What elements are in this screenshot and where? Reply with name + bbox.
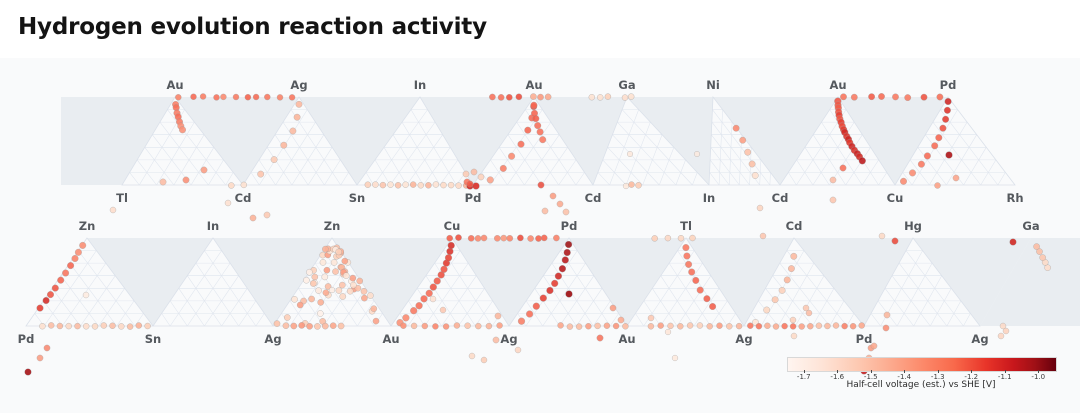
- data-point: [772, 297, 778, 303]
- data-point: [52, 285, 59, 292]
- data-point: [481, 357, 487, 363]
- data-point: [931, 143, 938, 150]
- data-point: [576, 324, 582, 330]
- data-point: [697, 287, 704, 294]
- data-point: [225, 200, 231, 206]
- data-point: [421, 295, 428, 302]
- data-point: [340, 293, 346, 299]
- data-point: [892, 238, 898, 244]
- data-point: [940, 125, 947, 132]
- data-point: [365, 182, 371, 188]
- data-point: [284, 314, 290, 320]
- data-point: [475, 323, 481, 329]
- data-point: [535, 235, 541, 241]
- data-point: [312, 274, 318, 280]
- data-point: [652, 235, 658, 241]
- data-point: [604, 323, 610, 329]
- data-point: [403, 314, 410, 321]
- data-point: [567, 324, 573, 330]
- ternary-vertex-label-top: Au: [166, 78, 183, 92]
- ternary-vertex-label-bottom: Cu: [887, 191, 904, 205]
- data-point: [454, 323, 460, 329]
- data-point: [905, 94, 911, 100]
- data-point: [497, 323, 503, 329]
- data-point: [773, 324, 779, 330]
- data-point: [859, 157, 866, 164]
- ternary-vertex-label-bottom: Pd: [18, 332, 35, 346]
- ternary-vertex-label-bottom: Sn: [145, 332, 161, 346]
- data-point: [884, 312, 890, 318]
- data-point: [541, 235, 547, 241]
- data-point: [528, 235, 534, 241]
- data-point: [859, 323, 865, 329]
- data-point: [935, 183, 941, 189]
- data-point: [253, 94, 259, 100]
- data-point: [506, 94, 512, 100]
- data-point: [37, 355, 43, 361]
- data-point: [564, 249, 571, 256]
- data-point: [329, 287, 335, 293]
- data-point: [892, 94, 898, 100]
- data-point: [622, 95, 628, 101]
- data-point: [214, 94, 220, 100]
- data-point: [487, 177, 494, 184]
- data-point: [395, 182, 401, 188]
- shaded-ternary-triangle: [713, 97, 838, 185]
- ternary-vertex-label-top: Au: [525, 78, 542, 92]
- ternary-vertex-label-top: Ga: [618, 78, 635, 92]
- data-point: [338, 323, 344, 329]
- data-point: [489, 94, 495, 100]
- data-point: [537, 129, 544, 136]
- data-point: [455, 235, 461, 241]
- data-point: [434, 278, 441, 285]
- data-point: [790, 323, 796, 329]
- data-point: [426, 290, 433, 297]
- data-point: [388, 182, 394, 188]
- data-point: [433, 182, 439, 188]
- data-point: [533, 115, 540, 122]
- data-point: [350, 275, 356, 281]
- data-point: [553, 235, 559, 241]
- data-point: [538, 182, 544, 188]
- data-point: [830, 177, 836, 183]
- ternary-vertex-label-top: Pd: [940, 78, 957, 92]
- data-point: [628, 94, 634, 100]
- ternary-vertex-label-bottom: Ag: [735, 332, 752, 346]
- data-point: [306, 269, 312, 275]
- data-point: [493, 337, 499, 343]
- data-point: [322, 274, 328, 280]
- data-point: [44, 345, 50, 351]
- data-point: [779, 287, 785, 293]
- data-point: [629, 182, 635, 188]
- data-point: [1010, 239, 1017, 246]
- data-point: [264, 212, 270, 218]
- data-point: [66, 323, 72, 329]
- data-point: [430, 284, 437, 291]
- data-point: [447, 235, 453, 241]
- ternary-vertex-label-bottom: In: [703, 191, 715, 205]
- data-point: [336, 287, 342, 293]
- data-point: [447, 248, 454, 255]
- data-point: [752, 172, 758, 178]
- data-point: [733, 125, 739, 131]
- data-point: [937, 94, 943, 100]
- data-point: [816, 323, 822, 329]
- ternary-vertex-label-bottom: Cd: [585, 191, 602, 205]
- data-point: [540, 295, 547, 302]
- data-point: [648, 323, 654, 329]
- data-point: [372, 182, 378, 188]
- data-point: [518, 141, 525, 148]
- data-point: [868, 94, 874, 100]
- data-point: [936, 134, 943, 141]
- data-point: [605, 94, 611, 100]
- data-point: [469, 353, 475, 359]
- data-point: [508, 153, 515, 160]
- data-point: [403, 182, 409, 188]
- data-point: [665, 329, 671, 335]
- data-point: [441, 182, 447, 188]
- data-point: [277, 94, 283, 100]
- data-point: [515, 347, 521, 353]
- ternary-vertex-label-bottom: Sn: [349, 191, 365, 205]
- data-point: [317, 310, 323, 316]
- data-point: [539, 136, 546, 143]
- data-point: [79, 242, 86, 249]
- data-point: [101, 323, 107, 329]
- data-point: [1003, 328, 1009, 334]
- data-point: [323, 290, 329, 296]
- data-point: [200, 94, 206, 100]
- data-point: [290, 128, 296, 134]
- data-point: [531, 102, 538, 109]
- data-point: [788, 265, 794, 271]
- shaded-ternary-triangle: [299, 97, 420, 185]
- data-point: [830, 197, 836, 203]
- ternary-vertex-label-top: Ag: [290, 78, 307, 92]
- data-point: [850, 323, 856, 329]
- data-point: [475, 235, 481, 241]
- data-point: [110, 323, 116, 329]
- shaded-ternary-triangle: [627, 97, 713, 185]
- data-point: [791, 333, 797, 339]
- data-point: [501, 235, 507, 241]
- data-point: [953, 175, 959, 181]
- data-point: [636, 182, 642, 188]
- ternary-vertex-label-bottom: Au: [382, 332, 399, 346]
- data-point: [498, 94, 504, 100]
- data-point: [72, 255, 79, 262]
- data-point: [526, 311, 533, 318]
- data-point: [307, 323, 313, 329]
- ternary-vertex-label-bottom: Ag: [264, 332, 281, 346]
- data-point: [494, 235, 500, 241]
- data-point: [697, 323, 703, 329]
- data-point: [39, 323, 45, 329]
- data-point: [110, 207, 116, 213]
- data-point: [297, 302, 303, 308]
- data-point: [339, 282, 345, 288]
- data-point: [707, 323, 713, 329]
- data-point: [565, 241, 572, 248]
- data-point: [324, 267, 330, 273]
- data-point: [840, 165, 846, 171]
- data-point: [25, 369, 32, 376]
- data-point: [336, 249, 342, 255]
- data-point: [380, 182, 386, 188]
- data-point: [331, 259, 337, 265]
- data-point: [271, 156, 277, 162]
- ternary-vertex-label-bottom: Ag: [971, 332, 988, 346]
- data-point: [296, 101, 302, 107]
- data-point: [610, 305, 616, 311]
- data-point: [726, 323, 732, 329]
- data-point: [900, 178, 907, 185]
- data-point: [883, 325, 889, 331]
- ternary-vertex-label-top: Hg: [904, 219, 922, 233]
- data-point: [595, 323, 601, 329]
- data-point: [500, 165, 507, 172]
- data-point: [250, 215, 256, 221]
- data-point: [416, 302, 423, 309]
- data-point: [562, 257, 569, 264]
- data-point: [410, 182, 416, 188]
- data-point: [43, 297, 50, 304]
- data-point: [294, 114, 300, 120]
- data-point: [425, 182, 431, 188]
- data-point: [75, 249, 82, 256]
- data-point: [558, 322, 564, 328]
- data-point: [782, 323, 788, 329]
- data-point: [764, 323, 770, 329]
- data-point: [57, 277, 64, 284]
- data-point: [879, 233, 885, 239]
- data-point: [542, 208, 548, 214]
- data-point: [740, 137, 746, 143]
- data-point: [559, 265, 566, 272]
- data-point: [627, 151, 633, 157]
- data-point: [201, 167, 207, 173]
- data-point: [443, 324, 449, 330]
- data-point: [790, 317, 796, 323]
- data-point: [467, 181, 473, 187]
- data-point: [241, 182, 247, 188]
- data-point: [330, 323, 336, 329]
- ternary-vertex-label-top: Pd: [561, 219, 578, 233]
- data-point: [48, 322, 54, 328]
- data-point: [175, 94, 181, 100]
- data-point: [264, 94, 270, 100]
- ternary-vertex-label-bottom: Ag: [500, 332, 517, 346]
- data-point: [672, 355, 678, 361]
- data-point: [179, 127, 186, 134]
- data-point: [618, 317, 624, 323]
- data-point: [448, 182, 454, 188]
- data-point: [677, 323, 683, 329]
- data-point: [517, 235, 523, 241]
- data-point: [550, 193, 556, 199]
- data-point: [361, 295, 367, 301]
- data-point: [309, 296, 315, 302]
- data-point: [57, 323, 63, 329]
- data-point: [322, 246, 328, 252]
- data-point: [495, 313, 501, 319]
- data-point: [944, 107, 951, 114]
- data-point: [445, 254, 452, 261]
- data-point: [537, 94, 543, 100]
- data-point: [563, 209, 569, 215]
- data-point: [533, 303, 540, 310]
- data-point: [75, 323, 81, 329]
- data-point: [516, 94, 522, 100]
- colorbar-label: Half-cell voltage (est.) vs SHE [V]: [787, 380, 1055, 390]
- ternary-vertex-label-bottom: Cd: [772, 191, 789, 205]
- data-point: [736, 323, 742, 329]
- data-point: [921, 94, 927, 100]
- figure-root: Hydrogen evolution reaction activity AuA…: [0, 0, 1080, 413]
- data-point: [441, 266, 448, 273]
- data-point: [807, 323, 813, 329]
- data-point: [530, 94, 536, 100]
- data-point: [471, 169, 477, 175]
- data-point: [945, 98, 952, 105]
- data-point: [47, 291, 54, 298]
- data-point: [909, 170, 916, 177]
- data-point: [314, 323, 320, 329]
- data-point: [690, 235, 696, 241]
- data-point: [486, 323, 492, 329]
- data-point: [373, 318, 379, 324]
- data-point: [440, 307, 446, 313]
- ternary-vertex-label-top: In: [207, 219, 219, 233]
- data-point: [589, 94, 595, 100]
- data-point: [418, 182, 424, 188]
- shaded-ternary-triangle: [175, 97, 299, 185]
- shaded-ternary-triangle: [87, 238, 213, 326]
- data-point: [833, 323, 839, 329]
- ternary-vertex-label-bottom: Pd: [465, 191, 482, 205]
- data-point: [118, 323, 124, 329]
- data-point: [760, 233, 766, 239]
- ternary-vertex-label-top: Zn: [79, 219, 96, 233]
- ternary-vertex-label-top: Tl: [680, 219, 692, 233]
- data-point: [693, 277, 700, 284]
- data-point: [448, 242, 455, 249]
- data-point: [840, 94, 846, 100]
- data-point: [687, 323, 693, 329]
- data-point: [342, 258, 348, 264]
- data-point: [350, 282, 356, 288]
- ternary-vertex-label-top: Ni: [706, 78, 720, 92]
- data-point: [465, 323, 471, 329]
- data-point: [316, 288, 322, 294]
- data-point: [283, 323, 289, 329]
- shaded-ternary-triangle: [534, 97, 627, 185]
- data-point: [347, 288, 353, 294]
- data-point: [878, 93, 884, 99]
- ternary-vertex-label-bottom: Tl: [116, 191, 128, 205]
- data-point: [1040, 255, 1046, 261]
- data-point: [245, 94, 251, 100]
- shaded-ternary-triangle: [61, 97, 175, 185]
- ternary-vertex-label-top: Zn: [324, 219, 341, 233]
- data-point: [183, 177, 189, 183]
- data-point: [851, 94, 857, 100]
- data-point: [299, 322, 305, 328]
- data-point: [37, 305, 44, 312]
- data-point: [233, 94, 239, 100]
- data-point: [757, 205, 763, 211]
- data-point: [799, 324, 805, 330]
- ternary-vertex-label-bottom: Cd: [235, 191, 252, 205]
- data-point: [683, 244, 690, 251]
- ternary-vertex-label-top: Ga: [1022, 219, 1039, 233]
- data-point: [547, 287, 554, 294]
- data-point: [613, 323, 619, 329]
- data-point: [357, 278, 363, 284]
- data-point: [62, 270, 69, 277]
- ternary-vertex-label-top: Au: [829, 78, 846, 92]
- data-point: [678, 235, 684, 241]
- data-point: [463, 171, 469, 177]
- data-point: [473, 183, 480, 190]
- data-point: [791, 253, 797, 259]
- data-point: [684, 253, 691, 260]
- colorbar: -1.7-1.6-1.5-1.4-1.3-1.2-1.1-1.0 Half-ce…: [787, 357, 1055, 391]
- data-point: [67, 262, 74, 269]
- data-point: [310, 280, 316, 286]
- data-point: [83, 292, 89, 298]
- data-point: [400, 323, 406, 329]
- data-point: [924, 153, 931, 160]
- data-point: [525, 127, 532, 134]
- data-point: [303, 277, 309, 283]
- data-point: [597, 335, 603, 341]
- ternary-vertex-label-top: In: [414, 78, 426, 92]
- data-point: [92, 323, 98, 329]
- data-point: [456, 183, 462, 189]
- data-point: [361, 288, 367, 294]
- data-point: [622, 323, 628, 329]
- data-point: [258, 171, 264, 177]
- data-point: [709, 303, 716, 310]
- data-point: [191, 94, 197, 100]
- data-point: [747, 323, 753, 329]
- data-point: [704, 295, 711, 302]
- data-point: [648, 315, 654, 321]
- data-point: [784, 277, 790, 283]
- ternary-vertex-label-bottom: Au: [618, 332, 635, 346]
- data-point: [946, 152, 953, 159]
- data-point: [566, 291, 573, 298]
- data-point: [694, 151, 700, 157]
- data-point: [597, 94, 603, 100]
- ternary-vertex-label-top: Cd: [786, 219, 803, 233]
- data-point: [942, 116, 949, 123]
- data-point: [274, 321, 280, 327]
- ternary-vertex-label-bottom: Rh: [1006, 191, 1023, 205]
- data-point: [367, 293, 373, 299]
- data-point: [507, 235, 513, 241]
- data-point: [291, 296, 297, 302]
- data-point: [685, 261, 692, 268]
- data-point: [824, 323, 830, 329]
- data-point: [842, 323, 848, 329]
- data-point: [432, 323, 438, 329]
- data-point: [281, 142, 287, 148]
